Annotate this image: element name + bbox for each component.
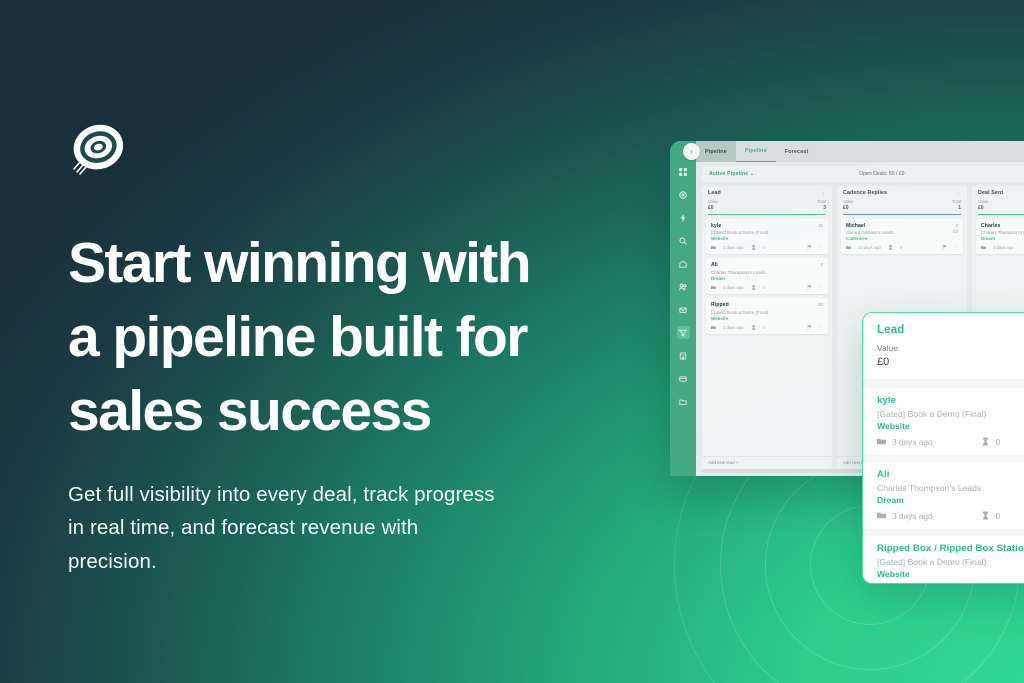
card-icon[interactable]	[677, 372, 690, 385]
card-menu-icon[interactable]: ⋮	[819, 325, 823, 330]
hero-section: Start winning with a pipeline built for …	[68, 118, 668, 578]
lead-panel-header: Lead Value £0	[863, 313, 1024, 377]
lead-card-name: Ali	[877, 469, 1024, 480]
lead-card-source: [Gated] Book a Demo (Final)	[877, 557, 1024, 567]
deal-tag: Cadences	[846, 236, 958, 241]
folder-icon	[877, 437, 886, 447]
flag-icon[interactable]	[807, 285, 812, 291]
column-menu-icon[interactable]: ⋮	[821, 190, 826, 196]
deal-card[interactable]: 30 Ripped [Gated] Book a Demo (Final) We…	[706, 298, 828, 334]
deal-tag: Website	[711, 236, 823, 241]
deal-card[interactable]: 0 Charles Charles Thompson's Leads Dream…	[976, 219, 1024, 255]
lightning-icon[interactable]	[677, 211, 690, 224]
column-menu-icon[interactable]: ⋮	[956, 190, 961, 196]
hourglass-icon	[751, 285, 756, 291]
lead-panel-value: £0	[877, 356, 1024, 368]
open-deals-summary: Open Deals: 50 / £0	[855, 171, 1024, 177]
deal-card[interactable]: 0 Ali Charles Thompson's Leads Dream 3 d…	[706, 258, 828, 294]
lead-card[interactable]: Ali Charles Thompson's Leads Dream 3 day…	[863, 462, 1024, 529]
card-menu-icon[interactable]: ⋮	[954, 245, 958, 250]
app-sidebar	[670, 141, 696, 476]
hourglass-icon	[981, 511, 990, 521]
lead-panel-title: Lead	[877, 324, 1024, 336]
filter-icon[interactable]	[677, 326, 690, 339]
lead-panel-cards: kyle [Gated] Book a Demo (Final) Website…	[863, 379, 1024, 584]
column-total: Total3	[817, 199, 826, 211]
pipeline-select[interactable]: Active Pipeline ⌄	[702, 171, 855, 177]
dashboard-grid-icon[interactable]	[677, 165, 690, 178]
spiral-target-logo	[68, 118, 130, 180]
folder-icon[interactable]	[677, 395, 690, 408]
lead-card-age: 3 days ago	[892, 511, 933, 521]
folder-icon	[711, 325, 716, 331]
card-menu-icon[interactable]: ⋮	[819, 285, 823, 290]
folder-icon	[711, 285, 716, 291]
column-title: Cadence Replies	[843, 190, 887, 196]
flag-icon[interactable]	[942, 245, 947, 251]
hourglass-icon	[751, 325, 756, 331]
folder-icon	[877, 511, 886, 521]
hourglass-icon	[751, 245, 756, 251]
deal-name: kyle	[711, 223, 823, 229]
target-icon[interactable]	[677, 188, 690, 201]
lead-panel-value-label: Value	[877, 343, 1024, 353]
lead-card-tag: Website	[877, 569, 1024, 579]
deal-source: [Gated] Book a Demo (Final)	[711, 230, 823, 235]
column-value: Value£0	[843, 199, 853, 211]
add-new-lead-button[interactable]: Add new lead +	[702, 456, 832, 469]
tab-bar: Pipeline Pipeline Forecast	[696, 141, 1024, 162]
tab-pipeline-window[interactable]: Pipeline	[696, 141, 736, 162]
hourglass-icon	[981, 437, 990, 447]
deal-card[interactable]: 30 kyle [Gated] Book a Demo (Final) Webs…	[706, 219, 828, 255]
folder-icon	[846, 245, 851, 251]
deal-card[interactable]: 4 £0 Michael Gerard Gilmore's Leads Cade…	[841, 219, 963, 255]
tab-pipeline[interactable]: Pipeline	[736, 141, 776, 162]
home-icon[interactable]	[677, 257, 690, 270]
page-title: Start winning with a pipeline built for …	[68, 226, 668, 448]
lead-card-tag: Website	[877, 421, 1024, 431]
deal-amount: 30	[818, 223, 823, 229]
lead-card[interactable]: kyle [Gated] Book a Demo (Final) Website…	[863, 388, 1024, 455]
column-title: Deal Sent	[978, 190, 1003, 196]
deal-source: Charles Thompson's Leads	[981, 230, 1024, 235]
deal-name: Ripped	[711, 302, 823, 308]
tab-forecast[interactable]: Forecast	[776, 141, 818, 162]
lead-card-source: [Gated] Book a Demo (Final)	[877, 409, 1024, 419]
lead-card-age: 3 days ago	[892, 437, 933, 447]
lead-card-name: Ripped Box / Ripped Box Station	[877, 543, 1024, 554]
column-value: Value£0	[708, 199, 718, 211]
flag-icon[interactable]	[807, 325, 812, 331]
folder-icon	[711, 245, 716, 251]
pipeline-column-lead: Lead ⋮ Value£0 Total3 3	[702, 186, 832, 469]
lead-card-hourglass-count: 0	[996, 437, 1001, 447]
deal-amount: 0	[821, 262, 823, 268]
deal-source: Gerard Gilmore's Leads	[846, 230, 958, 235]
deal-hourglass-count: 0	[763, 325, 765, 330]
deal-tag: Dream	[711, 276, 823, 281]
deal-age: 3 days ago	[723, 285, 744, 290]
building-icon[interactable]	[677, 349, 690, 362]
pipeline-toolbar: Active Pipeline ⌄ Open Deals: 50 / £0 Se…	[702, 166, 1024, 182]
lead-detail-panel: Lead Value £0 kyle [Gated] Book a Demo (…	[862, 312, 1024, 584]
hero-subcopy: Get full visibility into every deal, tra…	[68, 478, 613, 578]
deal-hourglass-count: 0	[763, 245, 765, 250]
column-cards: 30 kyle [Gated] Book a Demo (Final) Webs…	[702, 215, 832, 456]
folder-icon	[981, 245, 986, 251]
people-icon[interactable]	[677, 280, 690, 293]
column-header: Deal Sent ⋮ Value£0 Total4	[972, 186, 1024, 215]
deal-age: 3 days ago	[723, 325, 744, 330]
column-total: Total1	[952, 199, 961, 211]
deal-amount: 30	[818, 302, 823, 308]
column-header: Lead ⋮ Value£0 Total3	[702, 186, 832, 215]
lead-card[interactable]: Ripped Box / Ripped Box Station [Gated] …	[863, 536, 1024, 584]
deal-tag: Dream	[981, 236, 1024, 241]
deal-hourglass-count: 0	[900, 245, 902, 250]
deal-name: Charles	[981, 223, 1024, 229]
mail-icon[interactable]	[677, 303, 690, 316]
card-menu-icon[interactable]: ⋮	[819, 245, 823, 250]
deal-age: 13 days ago	[858, 245, 881, 250]
deal-source: [Gated] Book a Demo (Final)	[711, 310, 823, 315]
lead-card-hourglass-count: 0	[996, 511, 1001, 521]
column-title: Lead	[708, 190, 721, 196]
deal-hourglass-count: 0	[763, 285, 765, 290]
column-header: Cadence Replies ⋮ Value£0 Total1	[837, 186, 967, 215]
deal-name: Michael	[846, 223, 958, 229]
lead-card-name: kyle	[877, 395, 1024, 406]
deal-name: Ali	[711, 262, 823, 268]
column-value: Value£0	[978, 199, 988, 211]
lead-card-source: Charles Thompson's Leads	[877, 483, 1024, 493]
lead-card-tag: Dream	[877, 495, 1024, 505]
hourglass-icon	[888, 245, 893, 251]
search-icon[interactable]	[677, 234, 690, 247]
deal-age: 3 days ago	[993, 245, 1014, 250]
deal-source: Charles Thompson's Leads	[711, 270, 823, 275]
deal-amount: 4 £0	[953, 223, 958, 235]
chevron-right-icon[interactable]: ›	[683, 143, 700, 160]
flag-icon[interactable]	[807, 245, 812, 251]
deal-tag: Website	[711, 316, 823, 321]
deal-age: 3 days ago	[723, 245, 744, 250]
